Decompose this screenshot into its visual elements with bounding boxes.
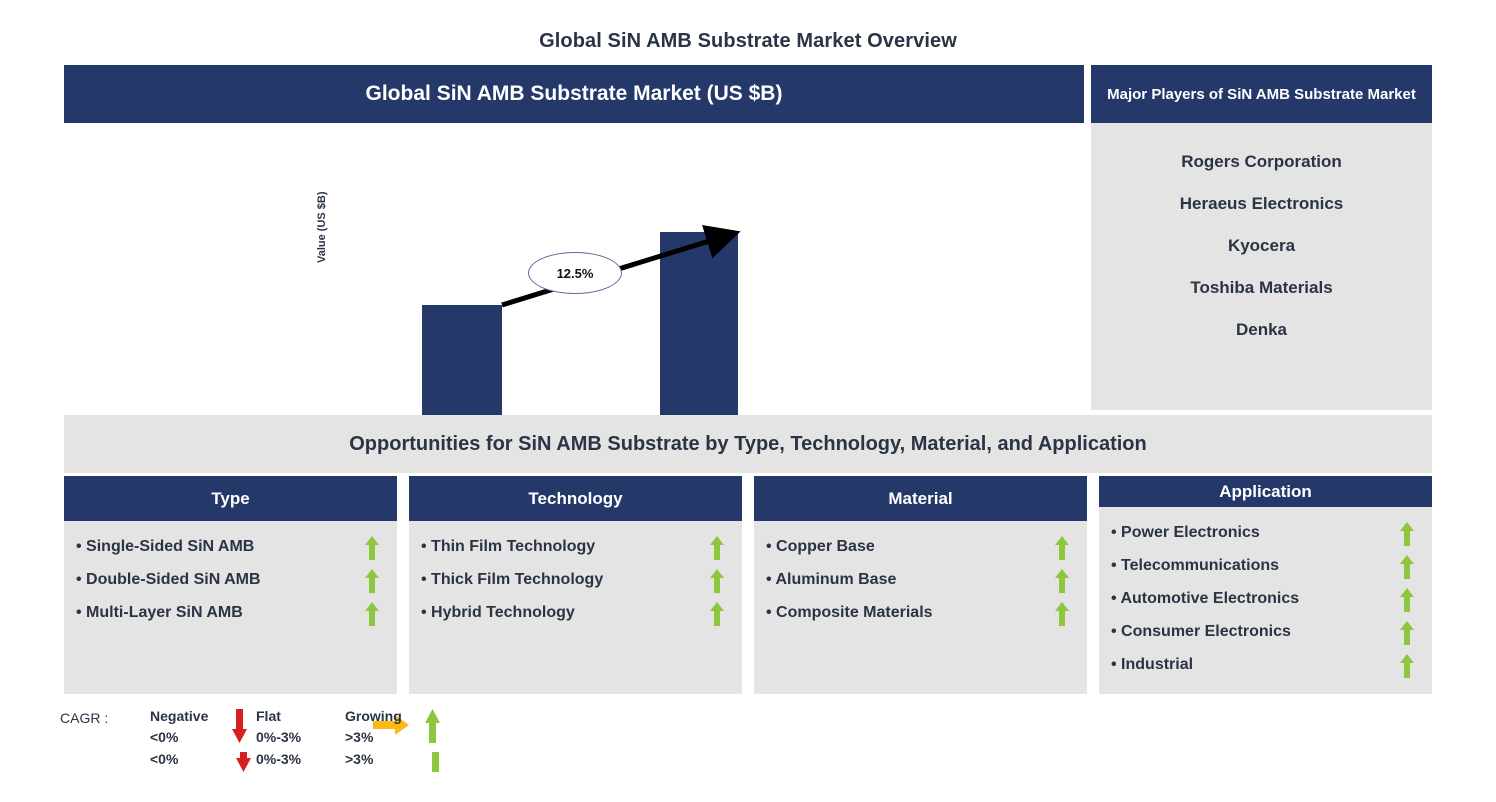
major-players-panel: Major Players of SiN AMB Substrate Marke… [1091, 65, 1432, 410]
growing-up-arrow-icon [1051, 601, 1073, 626]
list-item: Denka [1091, 309, 1432, 351]
infographic-page: Global SiN AMB Substrate Market Overview… [0, 0, 1496, 802]
growing-up-arrow-icon [361, 568, 383, 593]
y-axis-label: Value (US $B) [316, 191, 328, 263]
legend-negative: Negative <0% [150, 706, 208, 748]
legend-growing-label: Growing [345, 706, 402, 727]
column-body: • Copper Base • Aluminum Base • Composit… [754, 521, 1087, 694]
growing-up-arrow-icon [361, 535, 383, 560]
column-header: Type [64, 476, 397, 521]
negative-down-arrow-icon [232, 709, 247, 743]
item-label: • Thin Film Technology [421, 535, 595, 559]
list-item: • Thin Film Technology [421, 533, 732, 566]
list-item: • Copper Base [766, 533, 1077, 566]
column-header: Material [754, 476, 1087, 521]
column-body: • Power Electronics • Telecommunications… [1099, 507, 1432, 694]
column-type: Type • Single-Sided SiN AMB • Double-Sid… [64, 476, 397, 694]
list-item: • Consumer Electronics [1111, 618, 1422, 651]
item-label: • Industrial [1111, 653, 1193, 677]
column-header: Application [1099, 476, 1432, 507]
item-label: • Thick Film Technology [421, 568, 603, 592]
item-label: • Consumer Electronics [1111, 620, 1291, 644]
chart-panel-header: Global SiN AMB Substrate Market (US $B) [64, 65, 1084, 123]
growing-up-arrow-icon [706, 535, 728, 560]
list-item: Toshiba Materials [1091, 267, 1432, 309]
growing-up-arrow-icon [1396, 587, 1418, 612]
item-label: • Automotive Electronics [1111, 587, 1299, 611]
legend-flat-range: 0%-3% [256, 727, 301, 748]
growing-up-arrow-icon [1051, 568, 1073, 593]
opportunities-banner: Opportunities for SiN AMB Substrate by T… [64, 415, 1432, 473]
list-item: • Thick Film Technology [421, 566, 732, 599]
list-item: • Aluminum Base [766, 566, 1077, 599]
list-item: Rogers Corporation [1091, 141, 1432, 183]
chart-plot-area: Value (US $B) 2025 2031 12.5% Source : L… [64, 123, 1084, 410]
cagr-value-callout: 12.5% [528, 252, 622, 294]
column-application: Application • Power Electronics • Teleco… [1099, 476, 1432, 694]
growing-up-arrow-icon [1396, 653, 1418, 678]
list-item: • Multi-Layer SiN AMB [76, 599, 387, 632]
ghost-negative-range: <0% [150, 752, 178, 770]
item-label: • Copper Base [766, 535, 875, 559]
ghost-flat-range: 0%-3% [256, 752, 301, 770]
item-label: • Double-Sided SiN AMB [76, 568, 261, 592]
growing-up-arrow-icon [1051, 535, 1073, 560]
legend-growing: Growing >3% [345, 706, 402, 748]
page-title: Global SiN AMB Substrate Market Overview [0, 30, 1496, 53]
list-item: Kyocera [1091, 225, 1432, 267]
ghost-growing-up-arrow-icon [428, 752, 443, 772]
column-body: • Thin Film Technology • Thick Film Tech… [409, 521, 742, 694]
item-label: • Telecommunications [1111, 554, 1279, 578]
column-header: Technology [409, 476, 742, 521]
players-panel-header: Major Players of SiN AMB Substrate Marke… [1091, 65, 1432, 123]
opportunity-columns: Type • Single-Sided SiN AMB • Double-Sid… [64, 476, 1432, 694]
legend-flat-label: Flat [256, 706, 301, 727]
legend-title: CAGR : [60, 710, 108, 726]
ghost-negative-down-arrow-icon [236, 752, 251, 772]
market-chart-panel: Global SiN AMB Substrate Market (US $B) … [64, 65, 1084, 410]
ghost-growing-range: >3% [345, 752, 373, 770]
item-label: • Composite Materials [766, 601, 933, 625]
list-item: • Telecommunications [1111, 552, 1422, 585]
list-item: • Single-Sided SiN AMB [76, 533, 387, 566]
growing-up-arrow-icon [706, 601, 728, 626]
column-material: Material • Copper Base • Aluminum Base •… [754, 476, 1087, 694]
item-label: • Aluminum Base [766, 568, 896, 592]
legend-flat: Flat 0%-3% [256, 706, 301, 748]
legend-negative-label: Negative [150, 706, 208, 727]
list-item: • Power Electronics [1111, 519, 1422, 552]
legend-growing-range: >3% [345, 727, 402, 748]
item-label: • Power Electronics [1111, 521, 1260, 545]
list-item: • Automotive Electronics [1111, 585, 1422, 618]
legend-negative-range: <0% [150, 727, 208, 748]
growing-up-arrow-icon [1396, 521, 1418, 546]
growing-up-arrow-icon [1396, 620, 1418, 645]
cagr-legend-ghost-row: <0% 0%-3% >3% [60, 752, 660, 774]
growing-up-arrow-icon [706, 568, 728, 593]
column-body: • Single-Sided SiN AMB • Double-Sided Si… [64, 521, 397, 694]
list-item: • Industrial [1111, 651, 1422, 684]
list-item: • Hybrid Technology [421, 599, 732, 632]
growing-up-arrow-icon [361, 601, 383, 626]
cagr-legend: CAGR : Negative <0% Flat 0%-3% Growing >… [60, 706, 660, 786]
growing-up-arrow-icon [425, 709, 440, 743]
list-item: • Composite Materials [766, 599, 1077, 632]
list-item: Heraeus Electronics [1091, 183, 1432, 225]
column-technology: Technology • Thin Film Technology • Thic… [409, 476, 742, 694]
item-label: • Single-Sided SiN AMB [76, 535, 254, 559]
list-item: • Double-Sided SiN AMB [76, 566, 387, 599]
item-label: • Hybrid Technology [421, 601, 575, 625]
players-list: Rogers Corporation Heraeus Electronics K… [1091, 123, 1432, 410]
growing-up-arrow-icon [1396, 554, 1418, 579]
item-label: • Multi-Layer SiN AMB [76, 601, 243, 625]
